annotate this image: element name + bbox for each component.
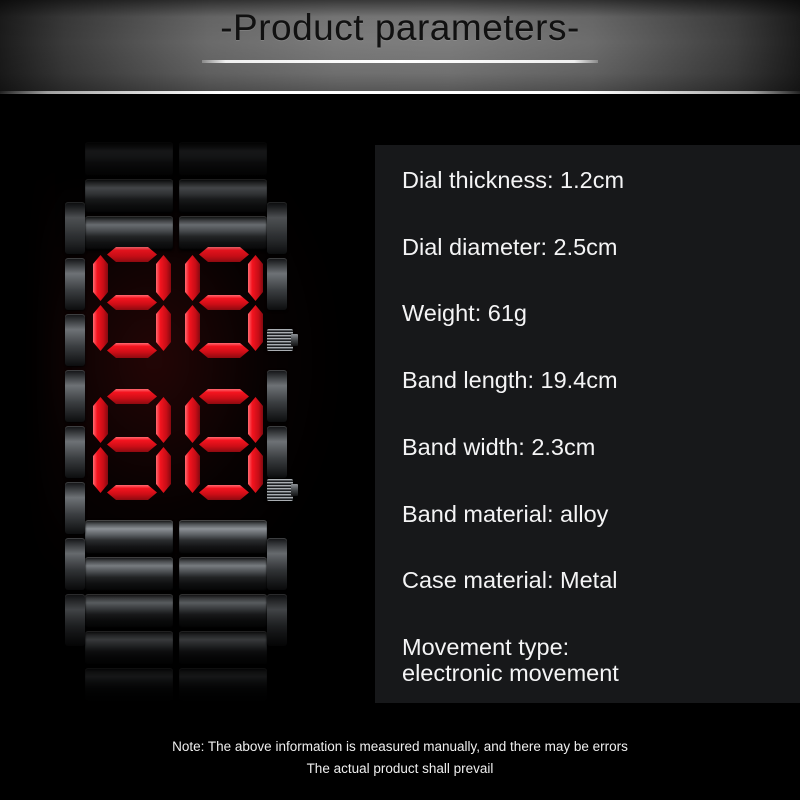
band-link	[85, 142, 173, 176]
led-digit	[185, 247, 263, 359]
led-digit-display	[87, 247, 273, 512]
segment-d	[199, 343, 249, 358]
band-link	[85, 668, 173, 702]
band-link	[85, 557, 173, 591]
band-link	[179, 668, 267, 702]
segment-a	[199, 247, 249, 262]
segment-g	[199, 437, 249, 452]
band-link	[179, 557, 267, 591]
spec-item-dial-diameter: Dial diameter: 2.5cm	[402, 234, 782, 262]
band-link	[179, 594, 267, 628]
segment-d	[107, 485, 157, 500]
segment-c	[248, 447, 263, 493]
product-photo	[0, 100, 376, 720]
segment-f	[93, 255, 108, 301]
watch-crown-bottom	[267, 479, 293, 501]
band-link	[179, 520, 267, 554]
segment-e	[185, 447, 200, 493]
led-digit	[93, 389, 171, 501]
spec-item-movement-type: Movement type: electronic movement	[402, 634, 782, 687]
band-side-link	[65, 594, 85, 646]
band-side-link	[65, 314, 85, 366]
segment-g	[107, 295, 157, 310]
segment-b	[248, 397, 263, 443]
segment-b	[156, 397, 171, 443]
segment-d	[107, 343, 157, 358]
header-bottom-divider	[0, 91, 800, 94]
led-digit	[93, 247, 171, 359]
specification-panel: Dial thickness: 1.2cm Dial diameter: 2.5…	[375, 145, 800, 703]
segment-f	[185, 397, 200, 443]
segment-c	[156, 305, 171, 351]
band-side-link	[267, 594, 287, 646]
segment-g	[199, 295, 249, 310]
title-underline-rule	[202, 60, 598, 63]
segment-c	[248, 305, 263, 351]
spec-item-dial-thickness: Dial thickness: 1.2cm	[402, 167, 782, 195]
band-side-link	[267, 538, 287, 590]
segment-a	[107, 389, 157, 404]
band-link	[179, 142, 267, 176]
band-link	[179, 179, 267, 213]
watch-crown-top	[267, 329, 293, 351]
segment-g	[107, 437, 157, 452]
segment-e	[185, 305, 200, 351]
footer-note-line-2: The actual product shall prevail	[0, 758, 800, 780]
band-link	[179, 631, 267, 665]
band-side-link	[65, 202, 85, 254]
led-digit	[185, 389, 263, 501]
header-banner: -Product parameters-	[0, 0, 800, 94]
segment-a	[107, 247, 157, 262]
product-parameters-page: -Product parameters-	[0, 0, 800, 800]
band-side-link	[65, 426, 85, 478]
specification-list: Dial thickness: 1.2cm Dial diameter: 2.5…	[402, 167, 782, 687]
band-side-link	[65, 258, 85, 310]
page-title: -Product parameters-	[0, 7, 800, 49]
spec-item-band-width: Band width: 2.3cm	[402, 434, 782, 462]
segment-c	[156, 447, 171, 493]
segment-f	[93, 397, 108, 443]
band-link	[85, 179, 173, 213]
segment-b	[248, 255, 263, 301]
segment-a	[199, 389, 249, 404]
spec-item-band-length: Band length: 19.4cm	[402, 367, 782, 395]
band-link	[179, 216, 267, 250]
segment-e	[93, 447, 108, 493]
segment-d	[199, 485, 249, 500]
footer-note-line-1: Note: The above information is measured …	[0, 736, 800, 758]
spec-item-band-material: Band material: alloy	[402, 501, 782, 529]
band-link	[85, 520, 173, 554]
band-side-link	[65, 538, 85, 590]
band-side-link	[65, 370, 85, 422]
footer-disclaimer: Note: The above information is measured …	[0, 736, 800, 780]
band-side-link	[65, 482, 85, 534]
spec-item-case-material: Case material: Metal	[402, 567, 782, 595]
band-link	[85, 631, 173, 665]
band-link	[85, 216, 173, 250]
led-watch	[85, 142, 275, 712]
segment-b	[156, 255, 171, 301]
segment-f	[185, 255, 200, 301]
band-link	[85, 594, 173, 628]
spec-item-weight: Weight: 61g	[402, 300, 782, 328]
segment-e	[93, 305, 108, 351]
